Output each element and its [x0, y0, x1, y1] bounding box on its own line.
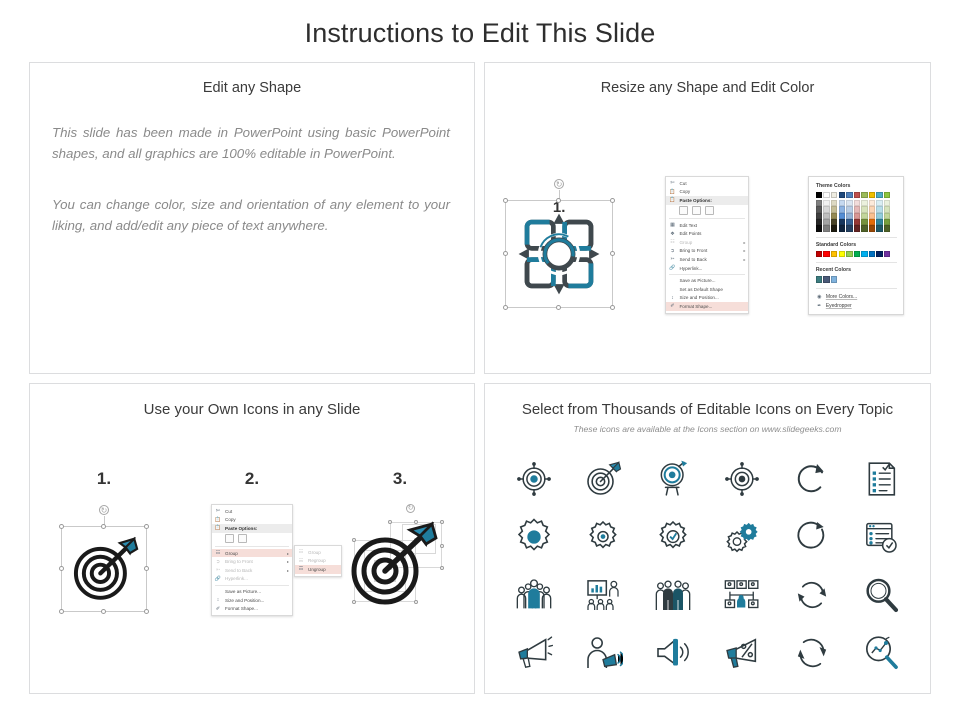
- bring-front-icon: ➲: [214, 558, 222, 565]
- step-3-illustration: ↻: [326, 504, 474, 618]
- megaphone-percent-icon[interactable]: [722, 633, 762, 673]
- icon-context-menu[interactable]: ✄ Cut 📋 Copy 📋 Paste Options:: [211, 504, 293, 616]
- standard-swatch-1[interactable]: [823, 251, 829, 257]
- eyedropper-item[interactable]: ✒ Eyedropper: [816, 302, 897, 311]
- gear-filled-icon[interactable]: [514, 517, 554, 557]
- menu-item-label: Size and Position...: [225, 598, 289, 603]
- paste-option-buttons[interactable]: [666, 205, 748, 217]
- resize-handle-bottom-left[interactable]: [503, 305, 508, 310]
- edit-points-icon: ❖: [668, 230, 676, 237]
- paste-keep-formatting-button[interactable]: [679, 206, 688, 215]
- menu-item-label: Set as Default Shape: [679, 287, 745, 292]
- step-illustration-row: ↻: [30, 504, 474, 618]
- theme-shade-column-2[interactable]: [831, 200, 837, 232]
- person-megaphone-icon[interactable]: [583, 633, 623, 673]
- resize-handle-top-left[interactable]: [59, 524, 64, 529]
- step-1-illustration: ↻: [485, 176, 633, 308]
- standard-colors-row[interactable]: [816, 251, 897, 257]
- editable-shape-graphic: [512, 207, 606, 301]
- panel-title: Use your Own Icons in any Slide: [30, 401, 474, 418]
- slide-canvas: Instructions to Edit This Slide Edit any…: [0, 0, 960, 720]
- resize-handle-middle-right[interactable]: [610, 251, 615, 256]
- theme-shade-0-4[interactable]: [816, 225, 822, 231]
- theme-shade-column-4[interactable]: [846, 200, 852, 232]
- resize-handle-bottom-left[interactable]: [59, 609, 64, 614]
- color-picker-panel[interactable]: Theme Colors Standard Colors Recent Colo…: [808, 176, 904, 315]
- step-number-3: 3.: [326, 469, 474, 489]
- scissors-icon: ✄: [214, 508, 222, 515]
- theme-shade-4-4[interactable]: [846, 225, 852, 231]
- target-arrow-graphic: [68, 533, 140, 605]
- clipboard-icon: 📋: [214, 525, 222, 532]
- menu-item-label: Save as Picture...: [679, 278, 745, 283]
- menu-item-paste-options[interactable]: 📋 Paste Options:: [212, 524, 292, 533]
- team-group-icon[interactable]: [653, 575, 693, 615]
- hyperlink-icon: 🔗: [214, 575, 222, 582]
- panel-title: Edit any Shape: [30, 80, 474, 96]
- people-leader-icon[interactable]: [514, 575, 554, 615]
- step-2-illustration: ✄ Cut 📋 Copy 📋 Paste Options:: [633, 176, 781, 314]
- resize-handle-top-left[interactable]: [503, 198, 508, 203]
- menu-item-hyperlink[interactable]: 🔗 Hyperlink...: [212, 575, 292, 584]
- gear-check-icon[interactable]: [653, 517, 693, 557]
- icon-library-grid: [499, 450, 916, 682]
- step-1-illustration: ↻: [30, 504, 178, 612]
- resize-handle-middle-right[interactable]: [144, 566, 149, 571]
- org-chart-icon[interactable]: [722, 575, 762, 615]
- eyedropper-label: Eyedropper: [826, 303, 852, 309]
- menu-separator: [669, 274, 745, 275]
- standard-swatch-3[interactable]: [839, 251, 845, 257]
- theme-shade-2-4[interactable]: [831, 225, 837, 231]
- menu-item-group[interactable]: ☷ Group ▸: [212, 549, 292, 558]
- picker-separator: [816, 237, 897, 238]
- chevron-right-icon: ▸: [743, 257, 745, 262]
- theme-swatch-7[interactable]: [869, 192, 875, 198]
- target-arrow-icon[interactable]: [583, 459, 623, 499]
- theme-shades-grid[interactable]: [816, 200, 897, 232]
- regroup-icon: ☵: [297, 557, 305, 564]
- menu-item-label: Bring to Front: [679, 248, 741, 253]
- step-number-row: 1. 2. 3.: [30, 469, 474, 489]
- eyedropper-icon: ✒: [816, 303, 823, 309]
- menu-item-bring-to-front[interactable]: ➲ Bring to Front ▸: [666, 247, 748, 256]
- chevron-right-icon: ▸: [287, 559, 289, 564]
- submenu-item-label: Group: [308, 550, 338, 555]
- theme-swatch-8[interactable]: [876, 192, 882, 198]
- target-stand-icon[interactable]: [653, 459, 693, 499]
- crosshair-target-icon[interactable]: [514, 459, 554, 499]
- menu-item-group[interactable]: ☷ Group ▸: [666, 238, 748, 247]
- submenu-item-regroup[interactable]: ☵ Regroup: [295, 557, 341, 566]
- group-icon: ☷: [297, 549, 305, 556]
- menu-item-label: Cut: [679, 181, 745, 186]
- paste-keep-formatting-button[interactable]: [225, 534, 234, 543]
- paste-picture-button[interactable]: [238, 534, 247, 543]
- document-check-icon[interactable]: [861, 517, 901, 557]
- menu-item-send-to-back[interactable]: ➳ Send to Back ▸: [666, 255, 748, 264]
- menu-item-label: Hyperlink...: [225, 576, 289, 581]
- recent-swatch-0[interactable]: [816, 276, 822, 282]
- standard-swatch-7[interactable]: [869, 251, 875, 257]
- resize-handle-top-right[interactable]: [610, 198, 615, 203]
- recent-colors-label: Recent Colors: [816, 267, 897, 273]
- ungrouped-selection[interactable]: ↻: [350, 518, 450, 618]
- presentation-audience-icon[interactable]: [583, 575, 623, 615]
- menu-item-hyperlink[interactable]: 🔗 Hyperlink...: [666, 264, 748, 273]
- recent-swatch-1[interactable]: [823, 276, 829, 282]
- menu-item-label: Send to Back: [225, 568, 285, 573]
- menu-item-label: Edit Text: [679, 223, 745, 228]
- panel-own-icons: Use your Own Icons in any Slide 1. 2. 3.…: [29, 383, 475, 694]
- menu-item-set-as-default-shape[interactable]: ☐ Set as Default Shape: [666, 285, 748, 294]
- theme-shade-column-9[interactable]: [884, 200, 890, 232]
- standard-swatch-8[interactable]: [876, 251, 882, 257]
- theme-shade-column-8[interactable]: [876, 200, 882, 232]
- theme-shade-1-4[interactable]: [823, 225, 829, 231]
- menu-separator: [215, 546, 289, 547]
- hyperlink-icon: 🔗: [668, 265, 676, 272]
- recent-swatch-2[interactable]: [831, 276, 837, 282]
- menu-item-copy[interactable]: 📋 Copy: [212, 516, 292, 525]
- refresh-arrow-icon[interactable]: [792, 459, 832, 499]
- paste-option-buttons[interactable]: [212, 533, 292, 545]
- step-number-1: 1.: [30, 469, 178, 489]
- recent-colors-row[interactable]: [816, 276, 897, 282]
- copy-icon: 📋: [214, 516, 222, 523]
- scissors-icon: ✄: [668, 180, 676, 187]
- menu-item-cut[interactable]: ✄ Cut: [212, 507, 292, 516]
- theme-shade-column-5[interactable]: [854, 200, 860, 232]
- ungroup-icon: ☶: [297, 566, 305, 573]
- theme-shade-9-4[interactable]: [884, 225, 890, 231]
- paste-picture-button[interactable]: [692, 206, 701, 215]
- menu-item-bring-to-front[interactable]: ➲ Bring to Front ▸: [212, 557, 292, 566]
- theme-swatch-5[interactable]: [854, 192, 860, 198]
- chevron-right-icon: ▸: [287, 551, 289, 556]
- menu-item-label: Paste Options:: [679, 198, 745, 203]
- theme-shade-column-0[interactable]: [816, 200, 822, 232]
- menu-item-format-shape[interactable]: ✐ Format Shape...: [212, 604, 292, 613]
- step-illustration-row: ↻: [485, 176, 930, 315]
- theme-swatch-0[interactable]: [816, 192, 822, 198]
- menu-item-label: Format Shape...: [225, 606, 289, 611]
- more-colors-label: More Colors...: [826, 294, 857, 300]
- theme-shade-8-4[interactable]: [876, 225, 882, 231]
- sync-arrows-icon[interactable]: [792, 575, 832, 615]
- chevron-right-icon: ▸: [743, 248, 745, 253]
- menu-item-label: Hyperlink...: [679, 266, 745, 271]
- menu-item-label: Save as Picture...: [225, 589, 289, 594]
- menu-item-label: Group: [225, 551, 285, 556]
- resize-handle-top-right[interactable]: [144, 524, 149, 529]
- theme-swatch-4[interactable]: [846, 192, 852, 198]
- theme-swatch-9[interactable]: [884, 192, 890, 198]
- standard-swatch-2[interactable]: [831, 251, 837, 257]
- resize-handle-bottom-middle[interactable]: [556, 305, 561, 310]
- panel-title: Resize any Shape and Edit Color: [485, 80, 930, 96]
- standard-swatch-5[interactable]: [854, 251, 860, 257]
- theme-shade-column-3[interactable]: [839, 200, 845, 232]
- panel-icon-library: Select from Thousands of Editable Icons …: [484, 383, 931, 694]
- picker-separator: [816, 262, 897, 263]
- theme-shade-column-1[interactable]: [823, 200, 829, 232]
- submenu-item-label: Regroup: [308, 558, 338, 563]
- menu-item-save-as-picture[interactable]: ☐ Save as Picture...: [212, 587, 292, 596]
- send-back-icon: ➳: [214, 567, 222, 574]
- page-title: Instructions to Edit This Slide: [0, 18, 960, 49]
- menu-item-size-and-position[interactable]: ↕ Size and Position...: [212, 596, 292, 605]
- description-block: This slide has been made in PowerPoint u…: [30, 96, 474, 236]
- menu-item-label: Copy: [225, 517, 289, 522]
- loudspeaker-icon[interactable]: [653, 633, 693, 673]
- circular-arrows-icon[interactable]: [792, 633, 832, 673]
- size-position-icon: ↕: [214, 597, 222, 604]
- copy-icon: 📋: [668, 188, 676, 195]
- menu-item-label: Edit Points: [679, 231, 745, 236]
- size-position-icon: ↕: [668, 294, 676, 301]
- resize-handle-middle-left[interactable]: [59, 566, 64, 571]
- magnifier-icon[interactable]: [861, 575, 901, 615]
- menu-separator: [669, 218, 745, 219]
- menu-item-label: Copy: [679, 189, 745, 194]
- resize-handle-bottom-right[interactable]: [144, 609, 149, 614]
- standard-swatch-6[interactable]: [861, 251, 867, 257]
- more-colors-item[interactable]: ◉ More Colors...: [816, 293, 897, 302]
- selection-frame[interactable]: ↻: [61, 526, 147, 612]
- paste-text-only-button[interactable]: [705, 206, 714, 215]
- theme-swatch-3[interactable]: [839, 192, 845, 198]
- panel-subtitle: These icons are available at the Icons s…: [485, 424, 930, 434]
- theme-shade-3-4[interactable]: [839, 225, 845, 231]
- panel-edit-any-shape: Edit any Shape This slide has been made …: [29, 62, 475, 374]
- resize-handle-middle-left[interactable]: [503, 251, 508, 256]
- resize-handle-bottom-right[interactable]: [610, 305, 615, 310]
- edit-text-icon: ▦: [668, 222, 676, 229]
- submenu-item-group[interactable]: ☷ Group: [295, 548, 341, 557]
- theme-colors-label: Theme Colors: [816, 183, 897, 189]
- palette-icon: ◉: [816, 294, 823, 300]
- paragraph-2: You can change color, size and orientati…: [52, 195, 450, 236]
- panel-title: Select from Thousands of Editable Icons …: [485, 401, 930, 418]
- menu-item-save-as-picture[interactable]: ☐ Save as Picture...: [666, 276, 748, 285]
- menu-item-paste-options[interactable]: 📋 Paste Options:: [666, 196, 748, 205]
- menu-item-label: Group: [679, 240, 741, 245]
- theme-swatch-6[interactable]: [861, 192, 867, 198]
- standard-swatch-9[interactable]: [884, 251, 890, 257]
- theme-shade-5-4[interactable]: [854, 225, 860, 231]
- theme-shade-7-4[interactable]: [869, 225, 875, 231]
- clipboard-icon: 📋: [668, 197, 676, 204]
- shape-context-menu[interactable]: ✄ Cut 📋 Copy 📋 Paste Options:: [665, 176, 749, 314]
- crosshair-dark-icon[interactable]: [722, 459, 762, 499]
- chevron-right-icon: ▸: [287, 568, 289, 573]
- format-shape-icon: ✐: [214, 605, 222, 612]
- resize-handle-top-middle[interactable]: [556, 198, 561, 203]
- group-submenu[interactable]: ☷ Group ☵ Regroup ☶ Ungroup: [294, 545, 342, 577]
- theme-shade-column-7[interactable]: [869, 200, 875, 232]
- menu-item-label: Cut: [225, 509, 289, 514]
- rotate-handle-icon[interactable]: ↻: [406, 504, 415, 513]
- bring-front-icon: ➲: [668, 247, 676, 254]
- send-back-icon: ➳: [668, 256, 676, 263]
- menu-item-send-to-back[interactable]: ➳ Send to Back ▸: [212, 566, 292, 575]
- menu-item-copy[interactable]: 📋 Copy: [666, 188, 748, 197]
- format-shape-icon: ✐: [668, 303, 676, 310]
- menu-item-format-shape[interactable]: ✐ Format Shape...: [666, 302, 748, 311]
- standard-swatch-0[interactable]: [816, 251, 822, 257]
- resize-handle-bottom-middle[interactable]: [101, 609, 106, 614]
- submenu-item-ungroup[interactable]: ☶ Ungroup: [295, 565, 341, 574]
- theme-swatch-1[interactable]: [823, 192, 829, 198]
- rotate-handle-icon[interactable]: ↻: [554, 179, 564, 189]
- selection-frame[interactable]: ↻: [505, 200, 613, 308]
- chevron-right-icon: ▸: [743, 240, 745, 245]
- menu-item-edit-text[interactable]: ▦ Edit Text: [666, 221, 748, 230]
- menu-item-label: Paste Options:: [225, 526, 289, 531]
- picker-separator: [816, 288, 897, 289]
- theme-shade-6-4[interactable]: [861, 225, 867, 231]
- submenu-item-label: Ungroup: [308, 567, 338, 572]
- menu-separator: [215, 585, 289, 586]
- step-2-illustration: ✄ Cut 📋 Copy 📋 Paste Options:: [178, 504, 326, 616]
- group-icon: ☷: [214, 550, 222, 557]
- magnifier-chart-icon[interactable]: [861, 633, 901, 673]
- menu-item-label: Size and Position...: [679, 295, 745, 300]
- menu-item-label: Format Shape...: [679, 304, 745, 309]
- panel-resize-and-color: Resize any Shape and Edit Color 1. 2. 3.…: [484, 62, 931, 374]
- menu-item-size-and-position[interactable]: ↕ Size and Position...: [666, 294, 748, 303]
- group-icon: ☷: [668, 239, 676, 246]
- theme-shade-column-6[interactable]: [861, 200, 867, 232]
- double-gear-icon[interactable]: [722, 517, 762, 557]
- resize-handle-top-middle[interactable]: [101, 524, 106, 529]
- step-number-2: 2.: [178, 469, 326, 489]
- standard-swatch-4[interactable]: [846, 251, 852, 257]
- paragraph-1: This slide has been made in PowerPoint u…: [52, 123, 450, 164]
- menu-item-cut[interactable]: ✄ Cut: [666, 179, 748, 188]
- menu-item-label: Bring to Front: [225, 559, 285, 564]
- theme-swatch-2[interactable]: [831, 192, 837, 198]
- menu-item-label: Send to Back: [679, 257, 741, 262]
- theme-colors-row[interactable]: [816, 192, 897, 198]
- step-3-illustration: Theme Colors Standard Colors Recent Colo…: [782, 176, 930, 315]
- standard-colors-label: Standard Colors: [816, 242, 897, 248]
- megaphone-icon[interactable]: [514, 633, 554, 673]
- checklist-document-icon[interactable]: [861, 459, 901, 499]
- target-arrow-graphic: [350, 518, 450, 618]
- circular-arrow-icon[interactable]: [792, 517, 832, 557]
- rotate-handle-icon[interactable]: ↻: [99, 505, 109, 515]
- menu-item-edit-points[interactable]: ❖ Edit Points: [666, 229, 748, 238]
- gear-outline-icon[interactable]: [583, 517, 623, 557]
